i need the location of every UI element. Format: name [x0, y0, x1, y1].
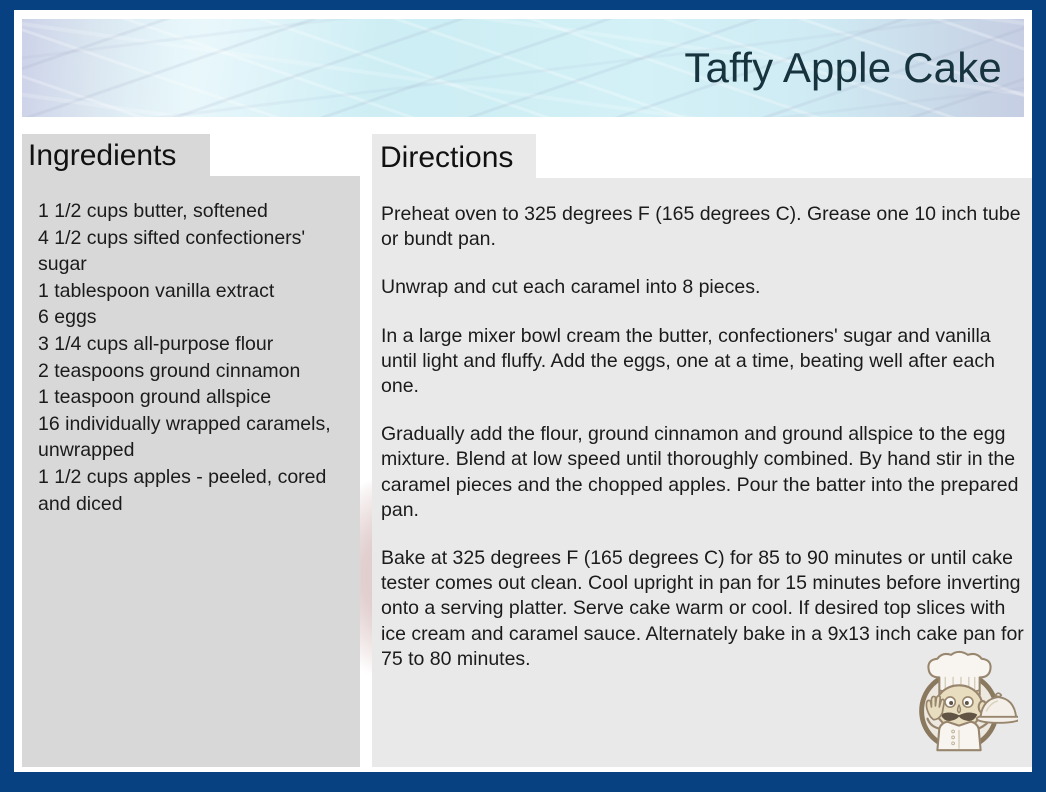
list-item: 3 1/4 cups all-purpose flour [38, 331, 352, 358]
list-item: 6 eggs [38, 304, 352, 331]
ingredients-heading: Ingredients [28, 141, 176, 171]
list-item: Preheat oven to 325 degrees F (165 degre… [381, 202, 1026, 252]
page-title: Taffy Apple Cake [684, 47, 1002, 89]
list-item: Unwrap and cut each caramel into 8 piece… [381, 275, 1026, 300]
list-item: 1 tablespoon vanilla extract [38, 278, 352, 305]
ingredients-panel: 1 1/2 cups butter, softened 4 1/2 cups s… [22, 176, 360, 767]
list-item: 16 individually wrapped caramels, unwrap… [38, 411, 352, 464]
recipe-card-page: Taffy Apple Cake Ingredients 1 1/2 cups … [0, 0, 1046, 792]
recipe-card-body: Taffy Apple Cake Ingredients 1 1/2 cups … [14, 10, 1032, 772]
list-item: In a large mixer bowl cream the butter, … [381, 324, 1026, 400]
list-item: Bake at 325 degrees F (165 degrees C) fo… [381, 546, 1026, 672]
directions-list: Preheat oven to 325 degrees F (165 degre… [381, 202, 1026, 672]
list-item: 4 1/2 cups sifted confectioners' sugar [38, 225, 352, 278]
directions-panel: Preheat oven to 325 degrees F (165 degre… [372, 178, 1032, 767]
list-item: 1 teaspoon ground allspice [38, 384, 352, 411]
list-item: Gradually add the flour, ground cinnamon… [381, 422, 1026, 523]
list-item: 1 1/2 cups butter, softened [38, 198, 352, 225]
ingredients-list: 1 1/2 cups butter, softened 4 1/2 cups s… [38, 198, 352, 517]
list-item: 2 teaspoons ground cinnamon [38, 358, 352, 385]
directions-heading: Directions [380, 143, 513, 173]
recipe-title-banner: Taffy Apple Cake [22, 19, 1024, 117]
list-item: 1 1/2 cups apples - peeled, cored and di… [38, 464, 352, 517]
